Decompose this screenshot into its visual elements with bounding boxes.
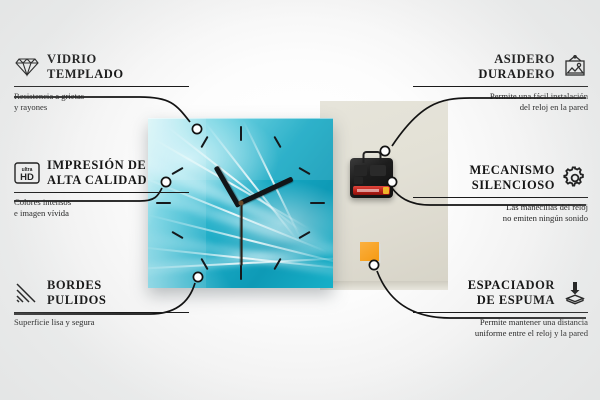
callout-title-line2: DURADERO [478,67,555,81]
callout-desc-line1: Resistencia a grietas [14,91,84,101]
callout-desc-line1: Colores intensos [14,197,71,207]
callout-title-line2: DE ESPUMA [477,293,555,307]
callout-desc-line1: Permite una fácil instalación [490,91,588,101]
hanging-frame-icon [562,55,588,79]
infographic-canvas: VIDRIO TEMPLADO Resistencia a grietas y … [0,0,600,400]
callout-desc-line2: e imagen vívida [14,208,69,218]
callout-desc-line1: Permite mantener una distancia [480,317,588,327]
battery [353,186,390,195]
callout-bordes-pulidos: BORDES PULIDOS Superficie lisa y segura [14,278,189,328]
callout-divider [14,86,189,87]
callout-title-line1: ESPACIADOR [468,278,555,292]
callout-divider [14,192,189,193]
callout-divider [14,312,189,313]
clock-tick [240,265,242,280]
svg-text:HD: HD [20,172,34,183]
callout-divider [413,86,588,87]
foam-spacer [360,242,379,261]
callout-title-line1: MECANISMO [469,163,555,177]
diamond-icon [14,55,40,79]
callout-desc-line2: no emiten ningún sonido [503,213,588,223]
callout-title-line2: TEMPLADO [47,67,124,81]
clock-tick [240,126,242,141]
down-arrow-pad-icon [562,281,588,305]
callout-mecanismo-silencioso: MECANISMO SILENCIOSO Las manecillas del … [413,163,588,225]
callout-desc-line2: del reloj en la pared [520,102,588,112]
clock-center-pivot [238,201,243,206]
callout-asidero-duradero: ASIDERO DURADERO Permite una fácil insta… [413,52,588,114]
callout-divider [413,197,588,198]
clock-second-hand [241,204,243,266]
callout-divider [413,312,588,313]
callout-vidrio-templado: VIDRIO TEMPLADO Resistencia a grietas y … [14,52,189,114]
gear-icon [562,166,588,190]
callout-title-line1: IMPRESIÓN DE [47,158,146,172]
callout-impresion-alta-calidad: ultra HD IMPRESIÓN DE ALTA CALIDAD Color… [14,158,189,220]
callout-desc-line2: y rayones [14,102,47,112]
clock-tick [310,202,325,204]
callout-desc-line1: Superficie lisa y segura [14,317,94,327]
callout-title-line2: ALTA CALIDAD [47,173,147,187]
callout-title-line2: SILENCIOSO [472,178,555,192]
polished-edges-icon [14,281,40,305]
callout-desc-line1: Las manecillas del reloj [506,202,588,212]
ultra-hd-icon: ultra HD [14,161,40,185]
callout-title-line1: BORDES [47,278,102,292]
callout-espaciador-espuma: ESPACIADOR DE ESPUMA Permite mantener un… [413,278,588,340]
callout-title-line2: PULIDOS [47,293,106,307]
mechanism-hook-icon [362,151,381,163]
callout-desc-line2: uniforme entre el reloj y la pared [475,328,588,338]
callout-title-line1: ASIDERO [494,52,555,66]
clock-mechanism [350,158,393,198]
callout-title-line1: VIDRIO [47,52,97,66]
